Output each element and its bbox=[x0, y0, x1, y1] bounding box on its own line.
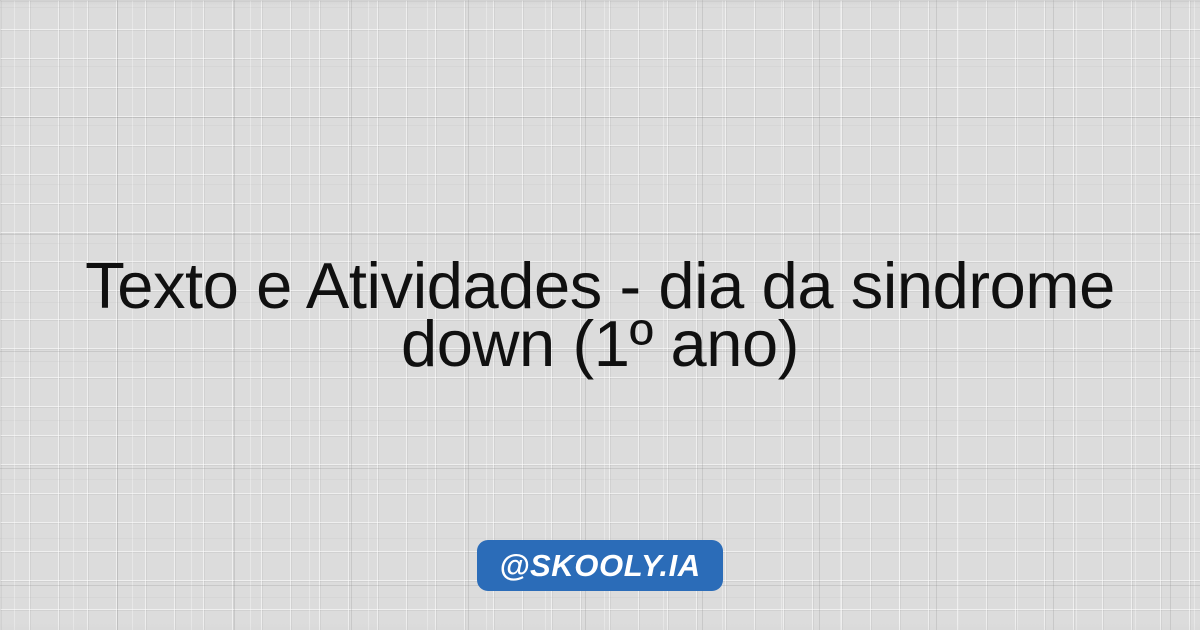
page-title: Texto e Atividades - dia da sindrome dow… bbox=[48, 257, 1152, 373]
card-content: Texto e Atividades - dia da sindrome dow… bbox=[0, 0, 1200, 630]
og-card: Texto e Atividades - dia da sindrome dow… bbox=[0, 0, 1200, 630]
